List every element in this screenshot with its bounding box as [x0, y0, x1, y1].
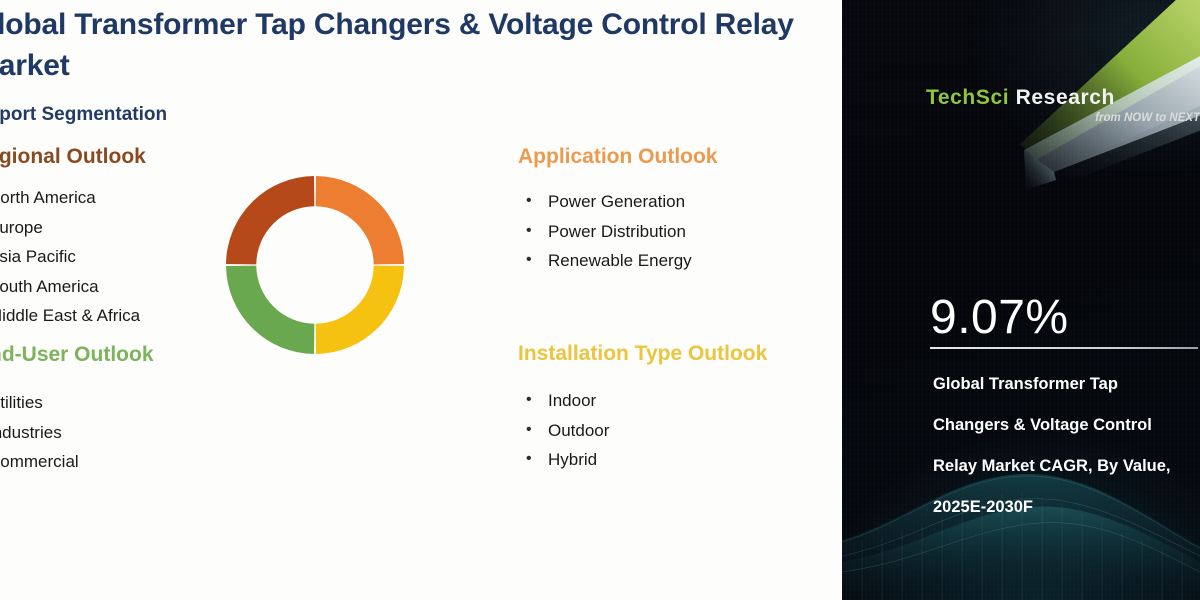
application-outlook-list: Power Generation Power Distribution Rene… — [512, 187, 692, 276]
donut-slices — [226, 176, 404, 354]
logo-techsci-text: TechSci — [926, 86, 1009, 109]
end-user-outlook-heading: End-User Outlook — [0, 343, 154, 367]
donut-slice — [316, 266, 404, 354]
list-item: Power Generation — [512, 187, 692, 217]
page-title: Global Transformer Tap Changers & Voltag… — [0, 4, 834, 86]
logo-research-text: Research — [1016, 86, 1115, 109]
cagr-description: Global Transformer Tap Changers & Voltag… — [933, 364, 1200, 528]
donut-chart-svg — [222, 172, 408, 358]
list-item: Utilities — [0, 388, 79, 418]
list-item: Asia Pacific — [0, 242, 140, 272]
list-item: Industries — [0, 418, 79, 448]
donut-slice — [226, 266, 314, 354]
regional-outlook-list: North America Europe Asia Pacific South … — [0, 183, 140, 331]
donut-slice — [226, 176, 314, 264]
list-item: Hybrid — [512, 445, 609, 475]
list-item: North America — [0, 183, 140, 213]
end-user-outlook-list: Utilities Industries Commercial — [0, 388, 79, 477]
list-item: South America — [0, 272, 140, 302]
logo-tagline: from NOW to NEXT — [926, 112, 1200, 124]
regional-outlook-heading: Regional Outlook — [0, 145, 146, 169]
logo-wordmark: TechSci Research — [926, 86, 1200, 110]
installation-type-outlook-list: Indoor Outdoor Hybrid — [512, 386, 609, 475]
list-item: Commercial — [0, 447, 79, 477]
list-item: Power Distribution — [512, 217, 692, 247]
donut-slice — [316, 176, 404, 264]
segmentation-donut-chart — [222, 172, 408, 358]
application-outlook-heading: Application Outlook — [518, 145, 718, 169]
list-item: Middle East & Africa — [0, 301, 140, 331]
list-item: Europe — [0, 213, 140, 243]
installation-type-outlook-heading: Installation Type Outlook — [518, 342, 767, 366]
cagr-value: 9.07% — [930, 290, 1200, 345]
report-segmentation-subtitle: Report Segmentation — [0, 104, 167, 126]
list-item: Renewable Energy — [512, 246, 692, 276]
techsci-research-logo: TechSci Research from NOW to NEXT — [926, 86, 1200, 124]
list-item: Indoor — [512, 386, 609, 416]
cagr-divider — [930, 347, 1198, 349]
infographic-root: Global Transformer Tap Changers & Voltag… — [0, 0, 1200, 600]
list-item: Outdoor — [512, 416, 609, 446]
segmentation-panel: Global Transformer Tap Changers & Voltag… — [0, 0, 842, 600]
